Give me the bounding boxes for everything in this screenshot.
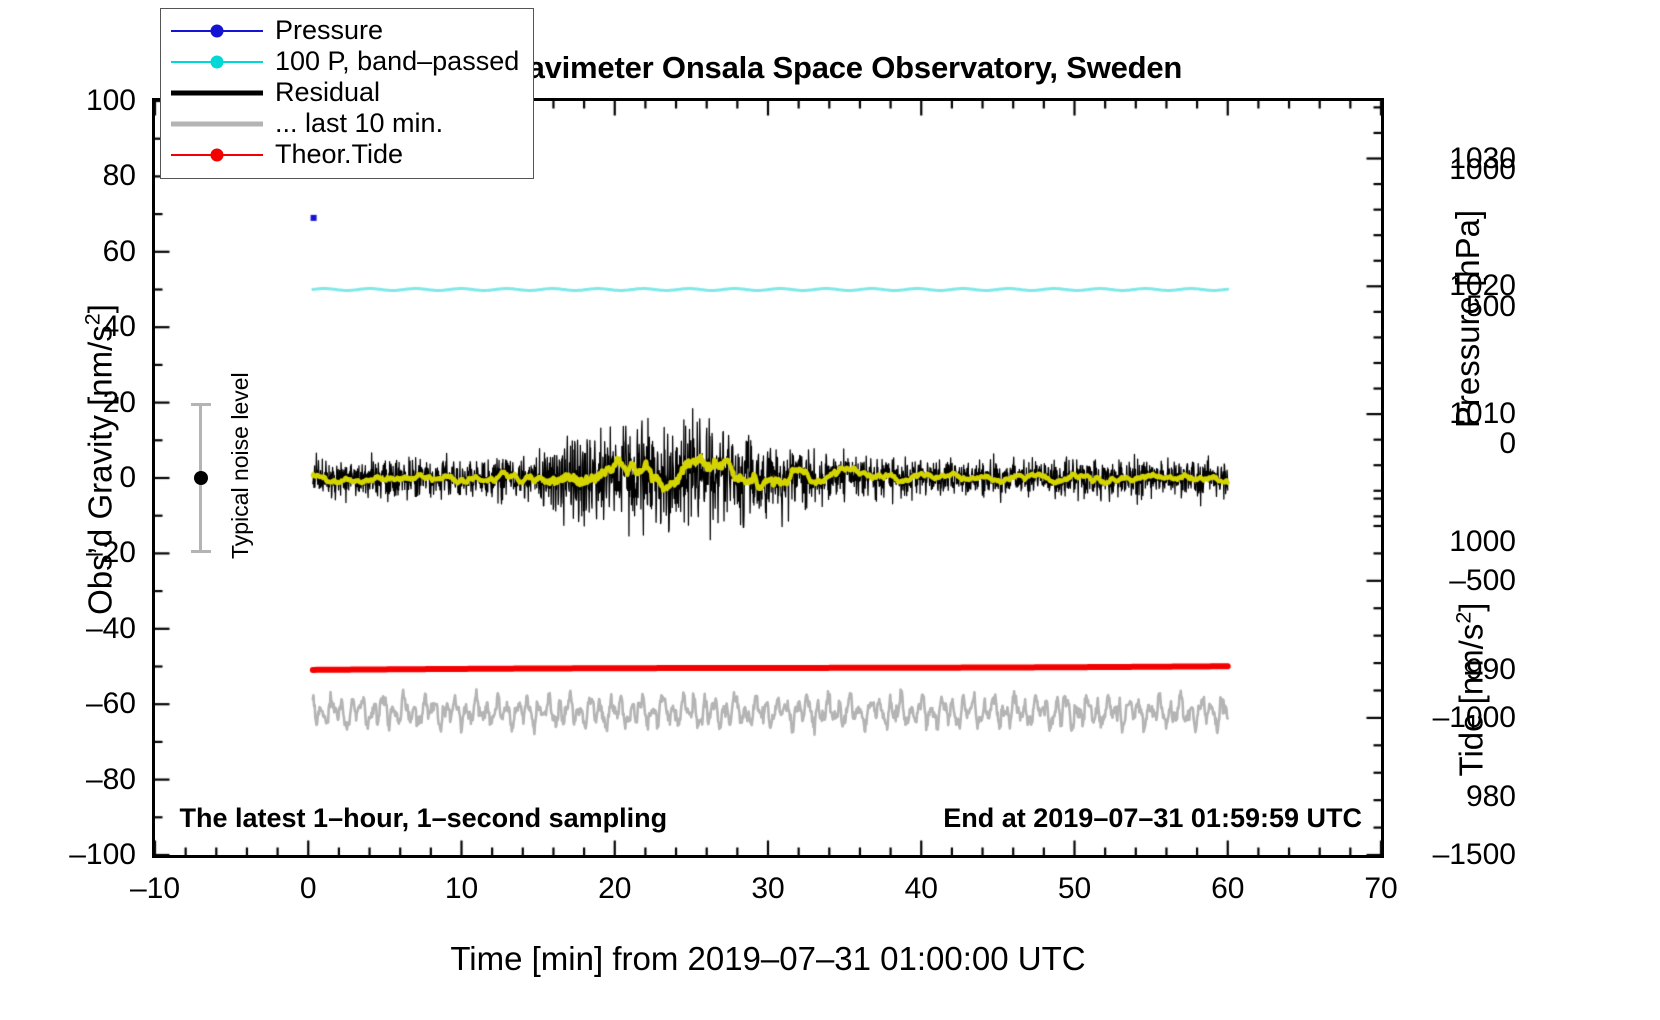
tide-axis-title: Tide [nm/s2] [1452, 525, 1491, 855]
legend-swatch-icon [171, 52, 263, 72]
legend-label: Pressure [275, 17, 383, 44]
legend-entry-0: Pressure [171, 15, 519, 46]
typical-noise-level-label: Typical noise level [227, 373, 254, 560]
legend-swatch-icon [171, 21, 263, 41]
x-tick-10: 10 [445, 872, 478, 906]
legend-entry-1: 100 P, band–passed [171, 46, 519, 77]
x-axis-title: Time [min] from 2019–07–31 01:00:00 UTC [152, 940, 1384, 978]
end-time-note: End at 2019–07–31 01:59:59 UTC [0, 803, 1362, 834]
y-tick-100: 100 [86, 84, 136, 118]
legend-swatch-icon [171, 83, 263, 103]
legend-label: Theor.Tide [275, 141, 403, 168]
legend-dot-icon [211, 55, 224, 68]
y-tick--80: –80 [86, 763, 136, 797]
legend-entry-4: Theor.Tide [171, 139, 519, 170]
gravimeter-plot-page: SCG_054 gravimeter Onsala Space Observat… [0, 0, 1660, 1020]
legend-swatch-icon [171, 114, 263, 134]
noise-error-bar-cap-top [191, 403, 211, 406]
y-tick--100: –100 [69, 838, 136, 872]
noise-level-dot [194, 471, 208, 485]
x-tick-70: 70 [1364, 872, 1397, 906]
x-tick--10: –10 [130, 872, 180, 906]
x-tick-50: 50 [1058, 872, 1091, 906]
x-tick-20: 20 [598, 872, 631, 906]
legend-dot-icon [211, 24, 224, 37]
legend-line-icon [171, 90, 263, 95]
x-tick-0: 0 [300, 872, 317, 906]
legend: Pressure100 P, band–passedResidual... la… [160, 8, 534, 179]
legend-swatch-icon [171, 145, 263, 165]
legend-line-icon [171, 121, 263, 126]
legend-label: 100 P, band–passed [275, 48, 519, 75]
y-tick-0: 0 [119, 461, 136, 495]
noise-error-bar-cap-bottom [191, 550, 211, 553]
x-tick-30: 30 [751, 872, 784, 906]
y-axis-left-title-text: Obs’d Gravity [nm/s2] [82, 304, 119, 615]
x-tick-60: 60 [1211, 872, 1244, 906]
legend-entry-3: ... last 10 min. [171, 108, 519, 139]
x-tick-40: 40 [905, 872, 938, 906]
legend-label: ... last 10 min. [275, 110, 443, 137]
legend-dot-icon [211, 148, 224, 161]
y-axis-left-title: Obs’d Gravity [nm/s2] [81, 200, 120, 720]
plot-area [152, 98, 1384, 858]
legend-entry-2: Residual [171, 77, 519, 108]
y-tick-80: 80 [103, 159, 136, 193]
plot-traces-canvas [155, 101, 1381, 855]
pressure-axis-title: Pressure [hPa] [1449, 119, 1487, 519]
legend-label: Residual [275, 79, 380, 106]
